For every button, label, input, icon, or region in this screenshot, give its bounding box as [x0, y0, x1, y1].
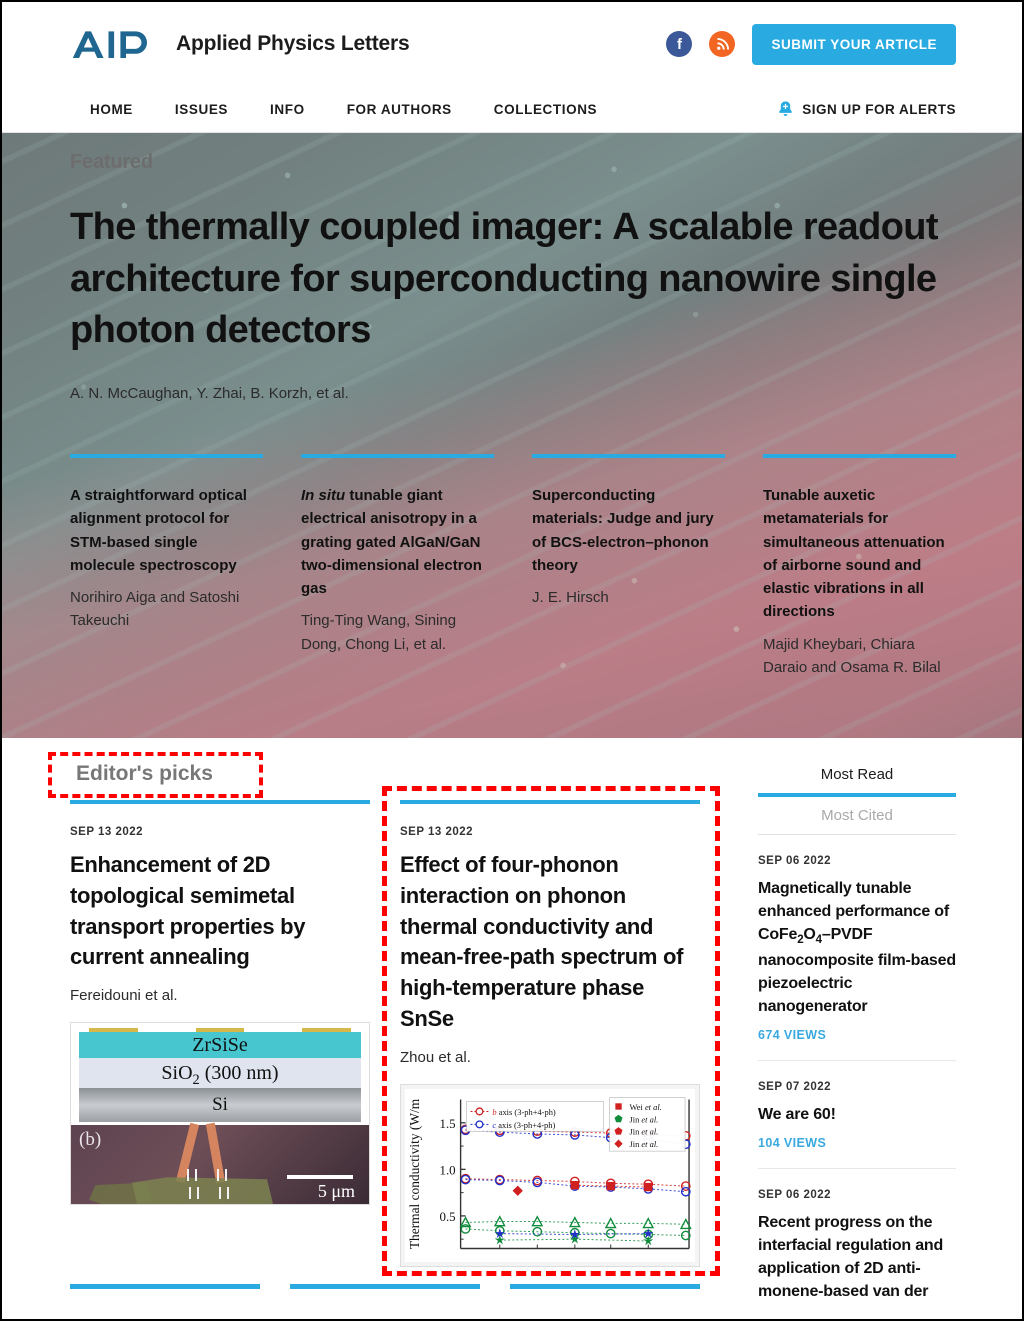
- svg-text:c axis (3-ph+4-ph): c axis (3-ph+4-ph): [492, 1120, 555, 1130]
- hero-card-authors: Majid Kheybari, Chiara Daraio and Osama …: [763, 633, 956, 680]
- sio2-tail: (300 nm): [200, 1062, 279, 1084]
- card-accent-rule: [301, 454, 494, 458]
- pick-title[interactable]: Effect of four-phonon interaction on pho…: [400, 850, 700, 1035]
- nav-item-for-authors[interactable]: FOR AUTHORS: [347, 102, 452, 117]
- item-view-count: 674 VIEWS: [758, 1028, 956, 1042]
- item-view-count: 104 VIEWS: [758, 1136, 956, 1150]
- svg-text:Wei et al.: Wei et al.: [629, 1102, 661, 1112]
- nav-item-issues[interactable]: ISSUES: [175, 102, 228, 117]
- pick-date: SEP 13 2022: [400, 826, 700, 838]
- masthead: Applied Physics Letters f SUBMIT YOUR AR…: [2, 2, 1022, 86]
- item-title-b: O: [803, 926, 815, 943]
- header-actions: f SUBMIT YOUR ARTICLE: [666, 24, 956, 65]
- most-read-sidebar: Most Read Most Cited SEP 06 2022 Magneti…: [758, 738, 956, 1305]
- hero-article-card[interactable]: Tunable auxetic metamaterials for simult…: [763, 454, 956, 679]
- editors-picks-heading: Editor's picks: [70, 738, 700, 800]
- journal-title: Applied Physics Letters: [176, 32, 409, 56]
- rss-glyph: [715, 37, 730, 52]
- stack-micrograph-panel: (b): [71, 1125, 369, 1205]
- editors-picks-grid: SEP 13 2022 Enhancement of 2D topologica…: [70, 800, 700, 1267]
- scale-bar-label: 5 μm: [318, 1181, 355, 1202]
- pick-thumbnail-device-stack[interactable]: ZrSiSe SiO2 (300 nm) Si (b): [70, 1022, 370, 1205]
- facebook-icon[interactable]: f: [666, 31, 692, 57]
- contact-nick: [189, 1187, 191, 1199]
- most-read-item[interactable]: SEP 07 2022 We are 60! 104 VIEWS: [758, 1061, 956, 1169]
- chart-outer: 0.51.01.5Thermal conductivity (W/mb axis…: [401, 1085, 699, 1266]
- series-jin-et-al-red-diamond: [513, 1185, 523, 1195]
- brand-block[interactable]: Applied Physics Letters: [70, 26, 409, 62]
- hero-card-title[interactable]: In situ tunable giant electrical anisotr…: [301, 484, 494, 600]
- hero-article-list: A straightforward optical alignment prot…: [2, 454, 1022, 679]
- aip-logo-icon[interactable]: [70, 26, 154, 62]
- item-title[interactable]: We are 60!: [758, 1103, 956, 1126]
- pick-authors: Fereidouni et al.: [70, 987, 370, 1004]
- card-accent-rule: [510, 1284, 700, 1289]
- hero-article-card[interactable]: In situ tunable giant electrical anisotr…: [301, 454, 494, 679]
- editors-pick-card-highlighted[interactable]: SEP 13 2022 Effect of four-phonon intera…: [400, 800, 700, 1267]
- svg-text:Thermal conductivity (W/m: Thermal conductivity (W/m: [407, 1098, 422, 1249]
- chart-svg: 0.51.01.5Thermal conductivity (W/mb axis…: [405, 1089, 695, 1262]
- page-root: Applied Physics Letters f SUBMIT YOUR AR…: [2, 2, 1022, 1319]
- series-jin-et-al-green-open-triangle: [461, 1217, 691, 1229]
- featured-article-title[interactable]: The thermally coupled imager: A scalable…: [70, 202, 956, 357]
- most-read-item[interactable]: SEP 06 2022 Magnetically tunable enhance…: [758, 835, 956, 1061]
- contact-nick: [197, 1187, 199, 1199]
- nav-links: HOME ISSUES INFO FOR AUTHORS COLLECTIONS: [90, 102, 597, 117]
- featured-hero: Featured The thermally coupled imager: A…: [2, 133, 1022, 738]
- scale-bar: [287, 1175, 353, 1179]
- hero-article-card[interactable]: Superconducting materials: Judge and jur…: [532, 454, 725, 679]
- hero-card-title-italic: In situ: [301, 487, 345, 504]
- nav-item-collections[interactable]: COLLECTIONS: [494, 102, 597, 117]
- layer-label-si: Si: [79, 1088, 361, 1122]
- card-accent-rule: [532, 454, 725, 458]
- hero-card-title[interactable]: A straightforward optical alignment prot…: [70, 484, 263, 577]
- pick-date: SEP 13 2022: [70, 826, 370, 838]
- tab-most-read[interactable]: Most Read: [758, 756, 956, 793]
- nav-item-info[interactable]: INFO: [270, 102, 305, 117]
- card-accent-rule: [70, 800, 370, 804]
- hero-article-card[interactable]: A straightforward optical alignment prot…: [70, 454, 263, 679]
- rss-icon[interactable]: [709, 31, 735, 57]
- primary-nav: HOME ISSUES INFO FOR AUTHORS COLLECTIONS…: [2, 86, 1022, 133]
- svg-text:0.5: 0.5: [440, 1209, 456, 1224]
- contact-nick: [225, 1169, 227, 1181]
- item-date: SEP 07 2022: [758, 1081, 956, 1093]
- card-accent-rule: [70, 1284, 260, 1289]
- chart-legend-right: Wei et al.Jin et al.Jin et al.Jin et al.: [610, 1097, 685, 1151]
- card-accent-rule: [400, 800, 700, 804]
- nav-item-home[interactable]: HOME: [90, 102, 133, 117]
- device-stack-figure: ZrSiSe SiO2 (300 nm) Si (b): [71, 1023, 369, 1204]
- svg-text:Jin et al.: Jin et al.: [629, 1139, 658, 1149]
- most-read-item[interactable]: SEP 06 2022 Recent progress on the inter…: [758, 1169, 956, 1319]
- contact-nick: [219, 1187, 221, 1199]
- card-accent-rule: [763, 454, 956, 458]
- contact-nick: [227, 1187, 229, 1199]
- hero-card-title[interactable]: Tunable auxetic metamaterials for simult…: [763, 484, 956, 624]
- contact-nick: [195, 1169, 197, 1181]
- contact-nick: [217, 1169, 219, 1181]
- stack-upper-panel: ZrSiSe SiO2 (300 nm) Si: [71, 1023, 369, 1124]
- next-row-accent-rules: [70, 1284, 700, 1289]
- item-title[interactable]: Magnetically tunable enhanced performanc…: [758, 877, 956, 1018]
- hero-card-title[interactable]: Superconducting materials: Judge and jur…: [532, 484, 725, 577]
- hero-card-authors: Ting-Ting Wang, Sining Dong, Chong Li, e…: [301, 609, 494, 656]
- svg-text:Jin et al.: Jin et al.: [629, 1114, 658, 1124]
- lower-section: Editor's picks SEP 13 2022 Enhancement o…: [2, 738, 1022, 1305]
- hero-content: Featured The thermally coupled imager: A…: [2, 133, 1022, 402]
- bell-plus-icon: [777, 100, 794, 119]
- svg-text:1.0: 1.0: [440, 1162, 456, 1177]
- featured-eyebrow: Featured: [70, 151, 956, 174]
- hero-card-authors: Norihiro Aiga and Satoshi Takeuchi: [70, 586, 263, 633]
- featured-article-authors: A. N. McCaughan, Y. Zhai, B. Korzh, et a…: [70, 385, 956, 402]
- probe-electrode-right: [206, 1122, 225, 1183]
- sio2-main: SiO: [161, 1062, 192, 1084]
- svg-text:b axis (3-ph+4-ph): b axis (3-ph+4-ph): [492, 1107, 556, 1117]
- pick-authors: Zhou et al.: [400, 1049, 700, 1066]
- tab-most-cited[interactable]: Most Cited: [758, 797, 956, 834]
- sidebar-tabs: Most Read Most Cited: [758, 756, 956, 835]
- pick-title[interactable]: Enhancement of 2D topological semimetal …: [70, 850, 370, 973]
- hero-card-authors: J. E. Hirsch: [532, 586, 725, 609]
- editors-pick-card[interactable]: SEP 13 2022 Enhancement of 2D topologica…: [70, 800, 370, 1267]
- editors-picks-section: Editor's picks SEP 13 2022 Enhancement o…: [70, 738, 700, 1305]
- panel-label-b: (b): [79, 1129, 101, 1151]
- layer-label-sio2: SiO2 (300 nm): [79, 1058, 361, 1088]
- item-date: SEP 06 2022: [758, 1189, 956, 1201]
- chart-legend-left: b axis (3-ph+4-ph)c axis (3-ph+4-ph): [467, 1101, 604, 1131]
- pick-thumbnail-chart[interactable]: 0.51.01.5Thermal conductivity (W/mb axis…: [400, 1084, 700, 1267]
- card-accent-rule: [290, 1284, 480, 1289]
- contact-nick: [187, 1169, 189, 1181]
- submit-article-button[interactable]: SUBMIT YOUR ARTICLE: [752, 24, 956, 65]
- item-date: SEP 06 2022: [758, 855, 956, 867]
- sio2-subscript: 2: [193, 1072, 200, 1088]
- svg-text:1.5: 1.5: [440, 1116, 456, 1131]
- card-accent-rule: [70, 454, 263, 458]
- item-title[interactable]: Recent progress on the interfacial regul…: [758, 1211, 956, 1303]
- thermal-conductivity-chart: 0.51.01.5Thermal conductivity (W/mb axis…: [405, 1089, 695, 1262]
- svg-text:Jin et al.: Jin et al.: [629, 1126, 658, 1136]
- layer-label-zrsise: ZrSiSe: [79, 1032, 361, 1058]
- sign-up-for-alerts-button[interactable]: SIGN UP FOR ALERTS: [777, 100, 956, 119]
- alerts-label: SIGN UP FOR ALERTS: [802, 102, 956, 117]
